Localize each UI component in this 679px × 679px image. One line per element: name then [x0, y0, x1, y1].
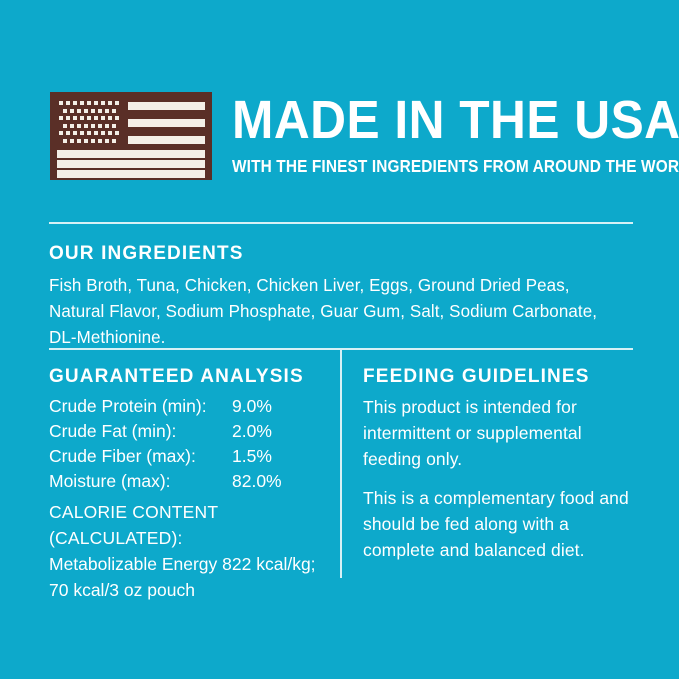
analysis-label: Moisture (max):	[49, 469, 232, 494]
flag-star	[80, 116, 84, 120]
flag-star	[70, 109, 74, 113]
feeding-guidelines-paragraph: This product is intended for intermitten…	[363, 394, 633, 472]
flag-star	[101, 116, 105, 120]
flag-star	[108, 116, 112, 120]
table-row: Crude Fiber (max): 1.5%	[49, 444, 331, 469]
flag-star	[80, 131, 84, 135]
flag-stripe	[57, 150, 205, 158]
analysis-value: 82.0%	[232, 469, 331, 494]
flag-star	[98, 109, 102, 113]
usa-flag-icon	[50, 92, 212, 180]
flag-star	[87, 101, 91, 105]
flag-stripe	[128, 119, 205, 127]
flag-canton-stars	[57, 99, 123, 145]
feeding-guidelines-paragraph: This is a complementary food and should …	[363, 485, 633, 563]
flag-star	[59, 131, 63, 135]
flag-star	[105, 109, 109, 113]
calorie-content-line-1: Metabolizable Energy 822 kcal/kg;	[49, 551, 331, 577]
flag-star	[105, 124, 109, 128]
flag-star	[77, 124, 81, 128]
flag-star	[84, 139, 88, 143]
table-row: Crude Protein (min): 9.0%	[49, 394, 331, 419]
flag-star	[94, 101, 98, 105]
divider-top	[49, 222, 633, 224]
ingredients-heading: OUR INGREDIENTS	[49, 243, 634, 265]
flag-star	[73, 116, 77, 120]
flag-star	[112, 139, 116, 143]
flag-star	[98, 139, 102, 143]
flag-star	[112, 124, 116, 128]
flag-star	[94, 131, 98, 135]
flag-stripe	[128, 102, 205, 110]
flag-star	[59, 101, 63, 105]
analysis-value: 2.0%	[232, 419, 331, 444]
analysis-label: Crude Fiber (max):	[49, 444, 232, 469]
flag-star	[105, 139, 109, 143]
analysis-label: Crude Fat (min):	[49, 419, 232, 444]
page-subtitle: WITH THE FINEST INGREDIENTS FROM AROUND …	[232, 155, 679, 177]
flag-stripe	[128, 136, 205, 144]
flag-star	[115, 116, 119, 120]
product-label-panel: MADE IN THE USA WITH THE FINEST INGREDIE…	[0, 0, 679, 679]
analysis-value: 1.5%	[232, 444, 331, 469]
flag-star	[66, 101, 70, 105]
feeding-guidelines-heading: FEEDING GUIDELINES	[363, 366, 633, 388]
flag-star	[84, 124, 88, 128]
flag-star	[66, 116, 70, 120]
page-title: MADE IN THE USA	[232, 92, 679, 148]
calorie-content-line-2: 70 kcal/3 oz pouch	[49, 577, 331, 603]
flag-star	[108, 131, 112, 135]
flag-star	[84, 109, 88, 113]
flag-star	[94, 116, 98, 120]
header-text-block: MADE IN THE USA WITH THE FINEST INGREDIE…	[232, 92, 679, 177]
flag-star	[59, 116, 63, 120]
flag-star	[108, 101, 112, 105]
flag-star	[63, 124, 67, 128]
table-row: Crude Fat (min): 2.0%	[49, 419, 331, 444]
flag-star	[63, 109, 67, 113]
flag-star	[98, 124, 102, 128]
flag-stripe	[57, 160, 205, 168]
guaranteed-analysis-heading: GUARANTEED ANALYSIS	[49, 366, 331, 388]
analysis-value: 9.0%	[232, 394, 331, 419]
divider-vertical	[340, 350, 342, 578]
flag-star	[73, 101, 77, 105]
flag-star	[77, 139, 81, 143]
flag-star	[101, 101, 105, 105]
flag-star	[87, 131, 91, 135]
flag-star	[87, 116, 91, 120]
made-in-usa-header: MADE IN THE USA WITH THE FINEST INGREDIE…	[50, 92, 634, 190]
flag-star	[73, 131, 77, 135]
flag-star	[70, 124, 74, 128]
flag-star	[91, 139, 95, 143]
flag-star	[91, 124, 95, 128]
calorie-content-heading: CALORIE CONTENT (CALCULATED):	[49, 499, 331, 551]
flag-star	[112, 109, 116, 113]
flag-star	[115, 101, 119, 105]
flag-stripe	[57, 170, 205, 178]
flag-star	[77, 109, 81, 113]
flag-star	[115, 131, 119, 135]
table-row: Moisture (max): 82.0%	[49, 469, 331, 494]
flag-star	[70, 139, 74, 143]
analysis-label: Crude Protein (min):	[49, 394, 232, 419]
flag-star	[101, 131, 105, 135]
ingredients-section: OUR INGREDIENTS Fish Broth, Tuna, Chicke…	[49, 243, 634, 350]
flag-star	[66, 131, 70, 135]
feeding-guidelines-section: FEEDING GUIDELINES This product is inten…	[363, 366, 633, 563]
guaranteed-analysis-section: GUARANTEED ANALYSIS Crude Protein (min):…	[49, 366, 331, 603]
ingredients-body: Fish Broth, Tuna, Chicken, Chicken Liver…	[49, 272, 616, 350]
flag-star	[80, 101, 84, 105]
guaranteed-analysis-table: Crude Protein (min): 9.0% Crude Fat (min…	[49, 394, 331, 494]
flag-star	[91, 109, 95, 113]
flag-star	[63, 139, 67, 143]
